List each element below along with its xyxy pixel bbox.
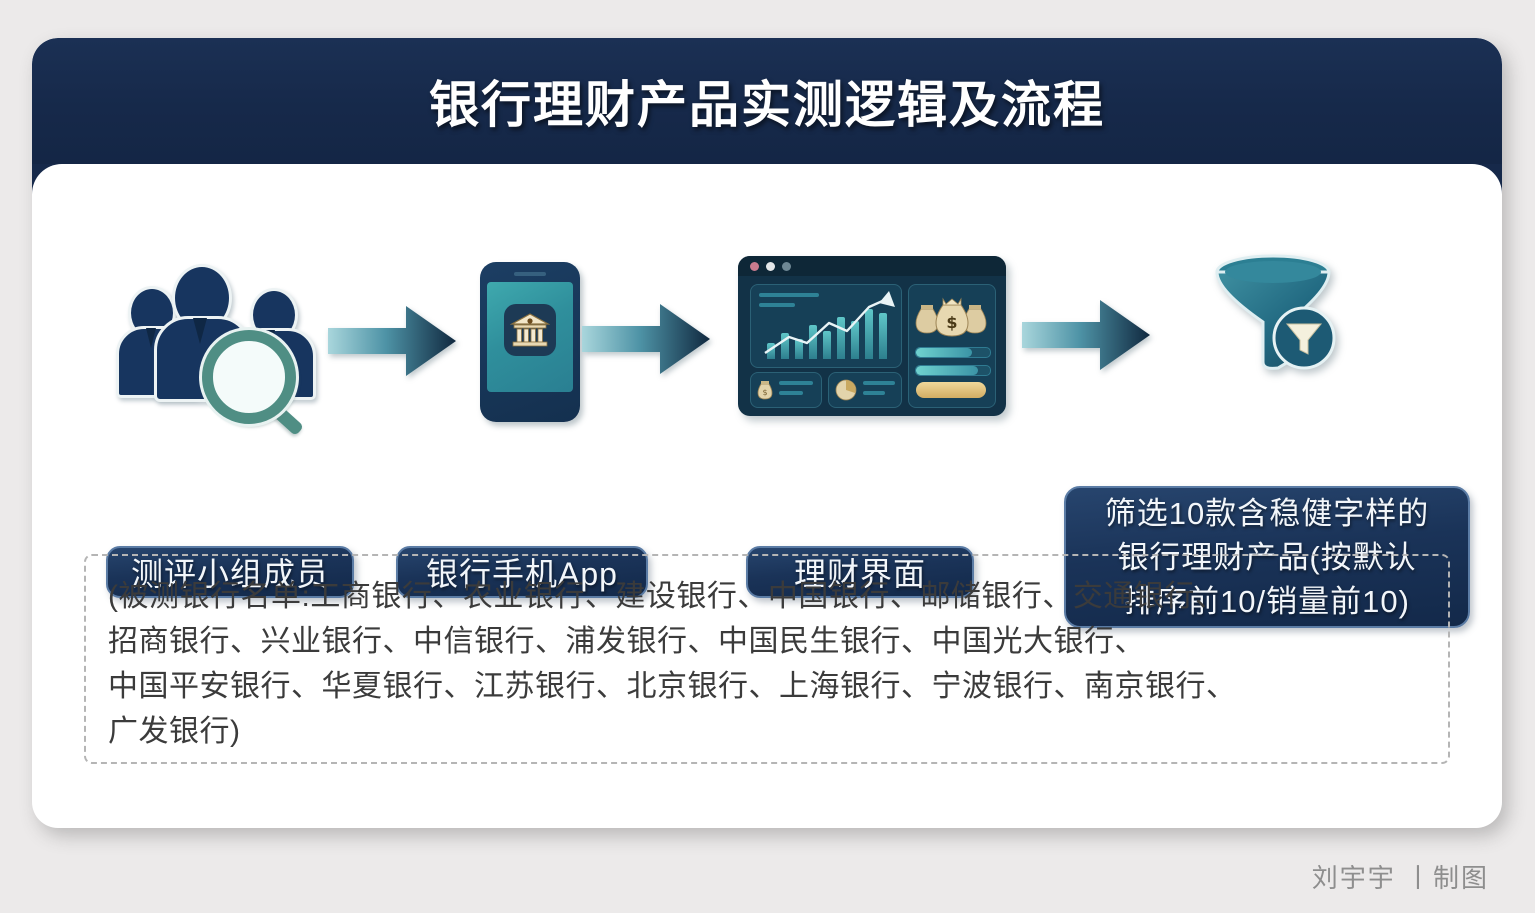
bank-mobile-app-icon: [480, 262, 580, 422]
page-title: 银行理财产品实测逻辑及流程: [32, 38, 1502, 164]
pie-chart-panel: [828, 372, 902, 408]
browser-title-bar: [738, 256, 1006, 276]
tie-left-icon: [146, 328, 156, 348]
svg-text:$: $: [762, 388, 767, 397]
arrow-right-icon: [328, 304, 456, 378]
window-minimize-dot-icon: [766, 262, 775, 271]
flow-row: $: [32, 164, 1502, 564]
browser-window: $: [738, 256, 1006, 416]
bank-list-line: 中国平安银行、华夏银行、江苏银行、北京银行、上海银行、宁波银行、南京银行、: [108, 664, 1426, 709]
window-close-dot-icon: [750, 262, 759, 271]
credit-text: 刘宇宇 丨制图: [1312, 858, 1489, 895]
bank-list-box: (被测银行名单:工商银行、农业银行、建设银行、中国银行、邮储银行、交通银行、 招…: [84, 554, 1450, 764]
result-line-1: 筛选10款含稳健字样的: [1078, 492, 1456, 536]
finance-dashboard-icon: $: [738, 256, 1006, 416]
bank-list-line: 招商银行、兴业银行、中信银行、浦发银行、中国民生银行、中国光大银行、: [108, 619, 1426, 664]
tie-center-icon: [193, 318, 207, 344]
phone-speaker-icon: [514, 272, 546, 276]
bar-chart-panel: [750, 284, 902, 368]
bank-building-icon: [504, 304, 556, 356]
arrow-right-icon: [1022, 298, 1150, 372]
window-maximize-dot-icon: [782, 262, 791, 271]
bank-list-line: 广发银行): [108, 709, 1426, 754]
infographic-card: 银行理财产品实测逻辑及流程: [32, 38, 1502, 828]
team-magnifier-icon: [128, 264, 338, 414]
filter-funnel-icon: [1208, 250, 1338, 396]
arrow-right-icon: [582, 302, 710, 376]
dashboard-action-button[interactable]: [916, 382, 986, 398]
magnifier-lens-icon: [202, 330, 296, 424]
bank-list-line: (被测银行名单:工商银行、农业银行、建设银行、中国银行、邮储银行、交通银行、: [108, 574, 1426, 619]
money-bag-stat-panel: $: [750, 372, 822, 408]
svg-text:$: $: [946, 313, 957, 332]
